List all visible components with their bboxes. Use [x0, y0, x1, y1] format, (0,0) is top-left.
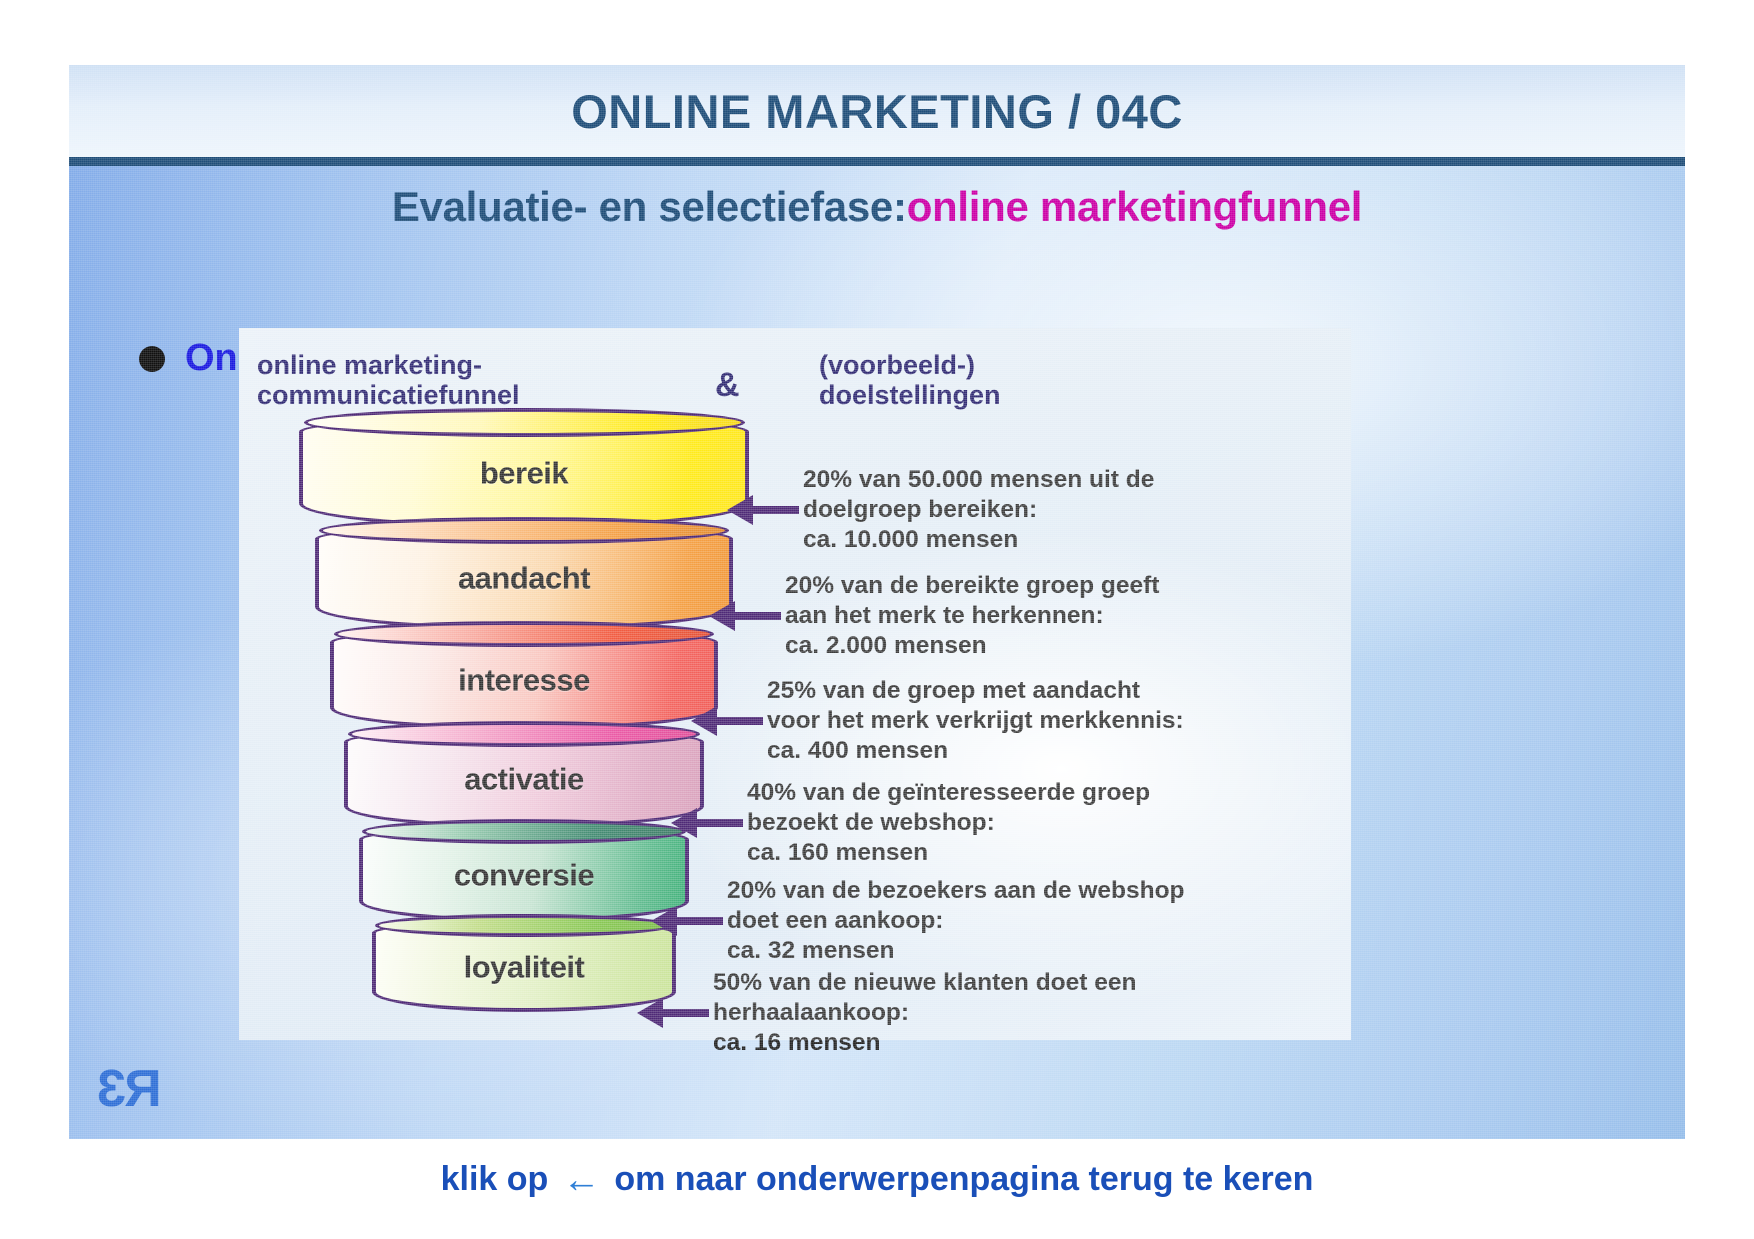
- funnel-stage-aandacht: aandacht: [315, 524, 733, 630]
- footer-text-after: om naar onderwerpenpagina terug te keren: [614, 1160, 1313, 1199]
- logo-3r: 3R: [99, 1059, 161, 1119]
- funnel-stage-interesse: interesse: [330, 628, 718, 730]
- arrow-back-icon[interactable]: ←: [562, 1161, 600, 1199]
- funnel-goal-loyaliteit: 50% van de nieuwe klanten doet een herha…: [637, 968, 1136, 1058]
- arrow-left-icon: [727, 495, 799, 525]
- funnel-stage-rim: [319, 517, 729, 545]
- funnel-goal-bereik: 20% van 50.000 mensen uit de doelgroep b…: [727, 465, 1154, 555]
- arrow-left-icon: [671, 808, 743, 838]
- bullet-dot-icon: [139, 346, 165, 372]
- funnel-goal-text: 20% van de bereikte groep geeft aan het …: [785, 571, 1159, 661]
- funnel-heading-left: online marketing- communicatiefunnel: [257, 350, 520, 410]
- arrow-left-icon: [691, 706, 763, 736]
- funnel-stage-activatie: activatie: [344, 728, 704, 828]
- footer-hint: klik op ← om naar onderwerpenpagina teru…: [0, 1160, 1754, 1199]
- funnel-stage-label: loyaliteit: [372, 949, 676, 985]
- funnel-stage-label: conversie: [359, 857, 689, 893]
- arrow-left-icon: [709, 601, 781, 631]
- arrow-left-icon: [651, 906, 723, 936]
- funnel-goal-text: 50% van de nieuwe klanten doet een herha…: [713, 968, 1136, 1058]
- funnel-goal-text: 25% van de groep met aandacht voor het m…: [767, 676, 1184, 766]
- logo-digit: 3: [99, 1059, 126, 1119]
- funnel-stage-conversie: conversie: [359, 826, 689, 922]
- funnel-stage-label: activatie: [344, 761, 704, 797]
- funnel-stage-rim: [348, 721, 701, 747]
- funnel-goal-text: 20% van 50.000 mensen uit de doelgroep b…: [803, 465, 1154, 555]
- funnel-goal-activatie: 40% van de geïnteresseerde groep bezoekt…: [671, 778, 1150, 868]
- slide-header: ONLINE MARKETING / 04C: [69, 65, 1685, 157]
- subtitle-plain: Evaluatie- en selectiefase:: [392, 183, 907, 231]
- funnel-goal-text: 20% van de bezoekers aan de webshop doet…: [727, 876, 1185, 966]
- slide-canvas: ONLINE MARKETING / 04C Evaluatie- en sel…: [66, 62, 1688, 1142]
- funnel-goal-interesse: 25% van de groep met aandacht voor het m…: [691, 676, 1184, 766]
- funnel-heading-ampersand: &: [715, 366, 740, 405]
- logo-letter: R: [126, 1059, 162, 1119]
- funnel-goal-aandacht: 20% van de bereikte groep geeft aan het …: [709, 571, 1159, 661]
- funnel-heading-right: (voorbeeld-) doelstellingen: [819, 350, 1001, 410]
- funnel-stage-label: aandacht: [315, 560, 733, 596]
- funnel-stage-loyaliteit: loyaliteit: [372, 920, 676, 1012]
- funnel-stage-label: bereik: [299, 455, 749, 491]
- subtitle-highlight: online marketingfunnel: [907, 183, 1362, 231]
- funnel-goal-conversie: 20% van de bezoekers aan de webshop doet…: [651, 876, 1185, 966]
- arrow-left-icon: [637, 998, 709, 1028]
- header-divider: [69, 157, 1685, 166]
- page-title: ONLINE MARKETING / 04C: [571, 84, 1183, 139]
- funnel-diagram-panel: online marketing- communicatiefunnel & (…: [239, 328, 1351, 1040]
- funnel-stage-label: interesse: [330, 662, 718, 698]
- funnel-goal-text: 40% van de geïnteresseerde groep bezoekt…: [747, 778, 1150, 868]
- funnel-stage-bereik: bereik: [299, 416, 749, 528]
- slide-subtitle: Evaluatie- en selectiefase: online marke…: [69, 171, 1685, 243]
- footer-text-before: klik op: [441, 1160, 549, 1199]
